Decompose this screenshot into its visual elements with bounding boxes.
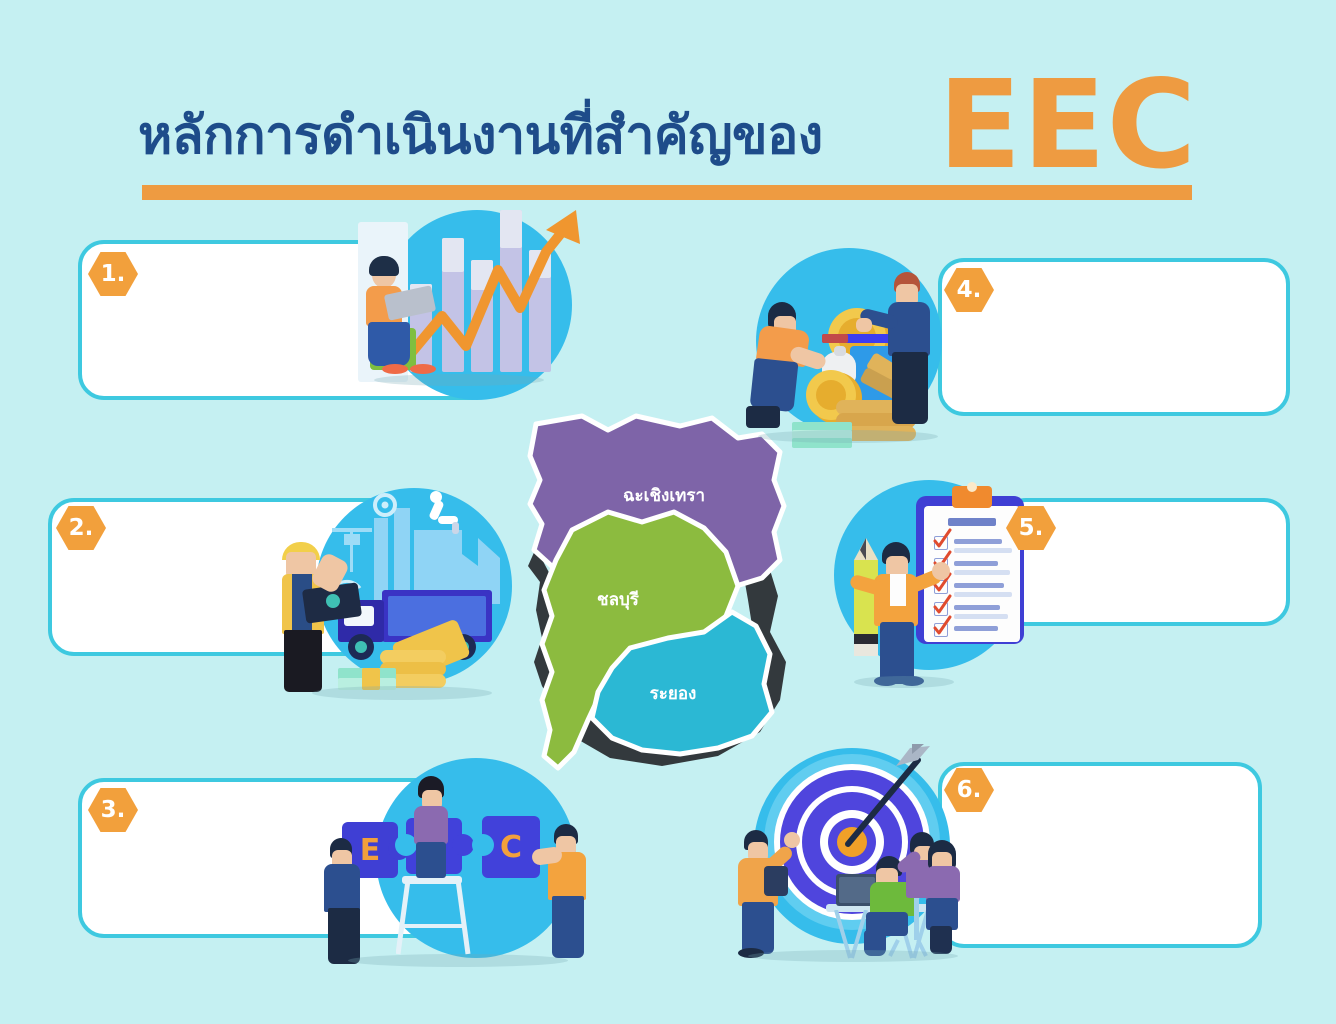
- title-eec-text: EEC: [938, 64, 1197, 186]
- clipboard-checklist-icon: [820, 466, 1046, 690]
- puzzle-letter-3: C: [482, 816, 540, 878]
- page-title: หลักการดำเนินงานที่สำคัญของ EEC: [0, 52, 1336, 202]
- map-label-rayong: ระยอง: [608, 680, 738, 707]
- eec-provinces-map[interactable]: ฉะเชิงเทรา ชลบุรี ระยอง: [512, 400, 812, 780]
- card-4[interactable]: [938, 258, 1290, 416]
- eec-puzzle-teamwork-icon: E E C: [330, 756, 600, 968]
- infographic-canvas: หลักการดำเนินงานที่สำคัญของ EEC 1.: [0, 0, 1336, 1024]
- title-thai-text: หลักการดำเนินงานที่สำคัญของ: [138, 110, 823, 162]
- bar-chart-growth-icon: [358, 198, 588, 423]
- map-label-chachoengsao: ฉะเชิงเทรา: [584, 482, 744, 509]
- target-bullseye-arrow-icon: [738, 744, 974, 964]
- map-label-chonburi: ชลบุรี: [548, 586, 688, 613]
- factory-truck-investment-icon: [282, 482, 524, 714]
- coins-money-icon: [744, 248, 964, 448]
